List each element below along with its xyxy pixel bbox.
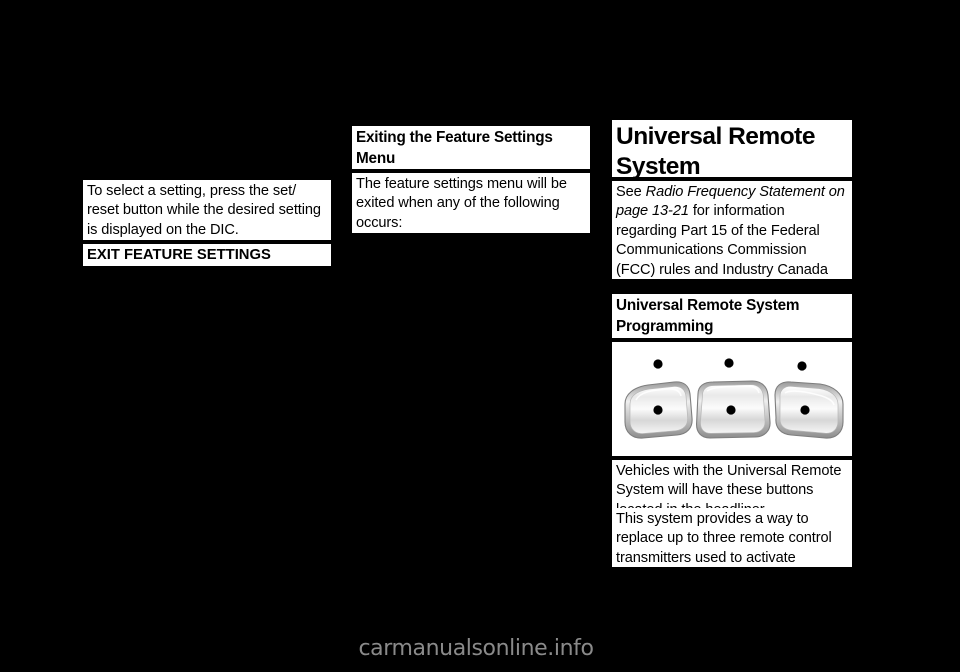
headliner-button-1[interactable] [625,382,692,438]
paragraph-system-provides-way: This system provides a way to replace up… [612,508,852,567]
manual-page-canvas: To select a setting, press the set/ rese… [0,0,960,672]
illustration-canvas [612,342,852,456]
headliner-buttons-graphic [612,342,852,456]
heading-exiting-the-feature-settings-menu: Exiting the Feature Settings Menu [352,126,590,169]
paragraph-exiting-menu: The feature settings menu will be exited… [352,173,590,233]
menu-item-exit-feature-settings: EXIT FEATURE SETTINGS [83,244,331,266]
button-1-center-dot [653,405,662,414]
section-title-universal-remote-system: Universal Remote System [612,120,852,177]
headliner-button-2[interactable] [697,381,770,438]
heading-universal-remote-system-programming: Universal Remote System Programming [612,294,852,338]
button-2-center-dot [726,405,735,414]
headliner-button-3[interactable] [775,382,843,438]
indicator-dot-2 [724,358,733,367]
figure-headliner-remote-buttons [612,342,852,456]
note-lead-text: See [616,184,646,200]
paragraph-select-setting: To select a setting, press the set/ rese… [83,180,331,240]
button-3-center-dot [800,405,809,414]
indicator-dot-1 [653,359,662,368]
indicator-dot-3 [797,361,806,370]
paragraph-radio-frequency-note: See Radio Frequency Statement on page 13… [612,181,852,279]
site-watermark: carmanualsonline.info [0,636,960,661]
